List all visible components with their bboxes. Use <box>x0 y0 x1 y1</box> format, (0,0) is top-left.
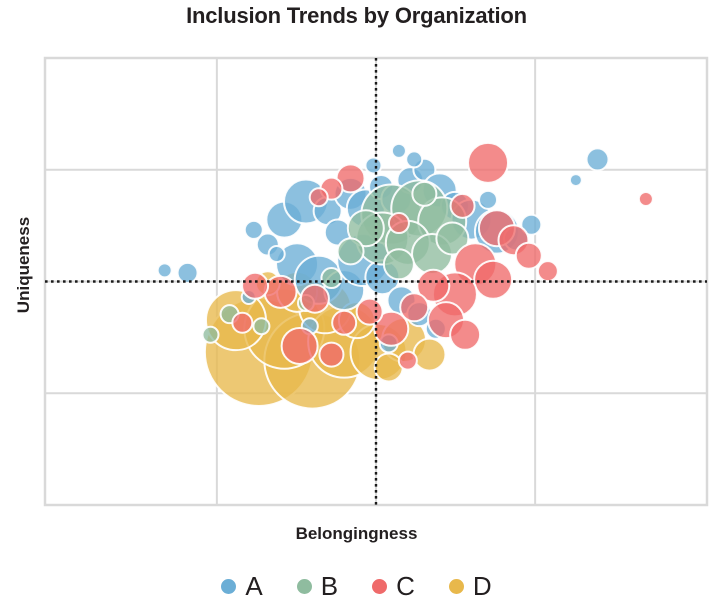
bubble-A <box>158 263 172 277</box>
bubble-C <box>468 143 508 183</box>
bubble-A <box>479 191 497 209</box>
y-axis-label: Uniqueness <box>14 195 34 335</box>
legend-item-B[interactable]: B <box>297 572 338 600</box>
bubble-A <box>178 263 198 283</box>
legend-item-A[interactable]: A <box>221 572 262 600</box>
bubble-B <box>253 318 269 334</box>
bubble-C <box>319 343 343 367</box>
bubble-C <box>310 188 328 206</box>
chart-legend: ABCD <box>0 572 713 600</box>
bubble-B <box>321 268 341 288</box>
bubble-B <box>338 238 364 264</box>
bubble-C <box>450 320 480 350</box>
bubble-C <box>232 313 252 333</box>
bubble-C <box>282 328 318 364</box>
legend-label: A <box>245 572 262 600</box>
legend-swatch-icon <box>449 579 464 594</box>
bubble-chart: Inclusion Trends by Organization Belongi… <box>0 0 713 606</box>
bubble-A <box>587 148 609 170</box>
bubble-A <box>245 221 263 239</box>
bubble-C <box>301 285 329 313</box>
legend-label: B <box>321 572 338 600</box>
legend-swatch-icon <box>297 579 312 594</box>
bubble-C <box>389 213 409 233</box>
bubble-C <box>399 352 417 370</box>
bubble-B <box>412 182 436 206</box>
bubble-B <box>384 249 414 279</box>
legend-item-D[interactable]: D <box>449 572 492 600</box>
bubble-A <box>570 174 582 186</box>
legend-label: D <box>473 572 492 600</box>
legend-swatch-icon <box>372 579 387 594</box>
bubble-A <box>406 151 422 167</box>
legend-swatch-icon <box>221 579 236 594</box>
x-axis-label: Belongingness <box>0 524 713 544</box>
bubble-B <box>203 327 219 343</box>
bubble-A <box>392 144 406 158</box>
bubble-D <box>413 339 445 371</box>
bubble-C <box>332 311 356 335</box>
legend-item-C[interactable]: C <box>372 572 415 600</box>
bubble-C <box>357 299 383 325</box>
bubble-A <box>365 157 381 173</box>
bubble-C <box>516 243 542 269</box>
plot-area <box>0 0 713 606</box>
bubble-C <box>242 273 268 299</box>
bubble-C <box>451 194 475 218</box>
bubble-A <box>269 246 285 262</box>
bubble-C <box>474 261 512 299</box>
bubble-C <box>639 192 653 206</box>
legend-label: C <box>396 572 415 600</box>
bubble-C <box>538 261 558 281</box>
